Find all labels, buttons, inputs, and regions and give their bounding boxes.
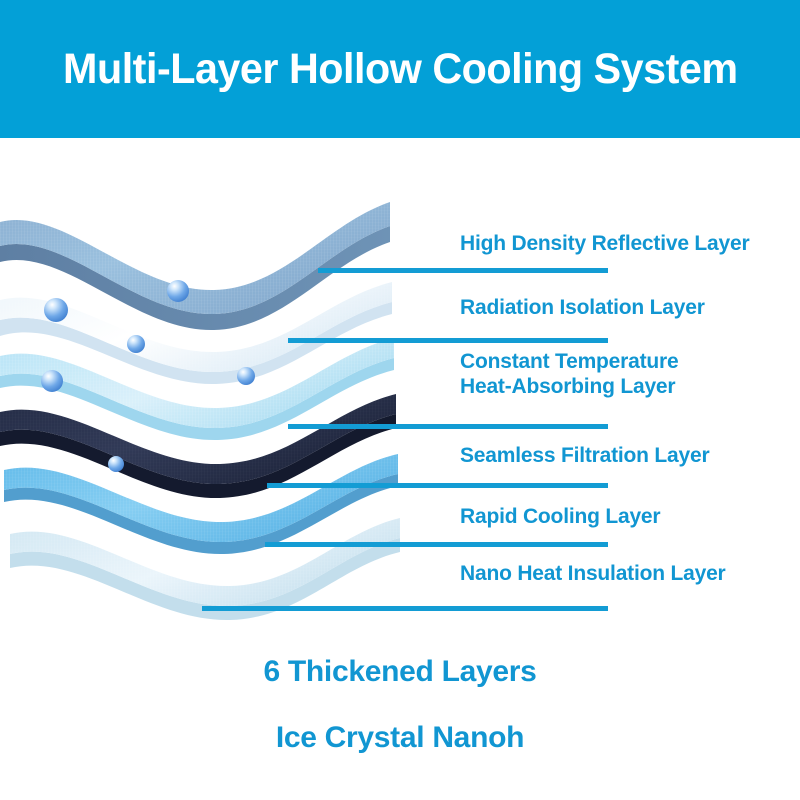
cooling-bead-icon — [127, 335, 145, 353]
layer-label-4: Seamless Filtration Layer — [460, 444, 709, 469]
layer-label-2: Radiation Isolation Layer — [460, 296, 705, 321]
infographic-page: Multi-Layer Hollow Cooling System — [0, 0, 800, 800]
cooling-bead-icon — [44, 298, 68, 322]
layer-label-3: Constant Temperature Heat-Absorbing Laye… — [460, 350, 760, 400]
layer-label-1: High Density Reflective Layer — [460, 232, 749, 257]
footer-line-ice-crystal: Ice Crystal Nanoh — [0, 721, 800, 755]
cooling-bead-icon — [108, 456, 124, 472]
layer-label-3-line1: Constant Temperature — [460, 350, 760, 375]
cooling-bead-icon — [167, 280, 189, 302]
page-title: Multi-Layer Hollow Cooling System — [63, 45, 738, 94]
layer-label-3-line2: Heat-Absorbing Layer — [460, 375, 760, 400]
cooling-bead-icon — [237, 367, 255, 385]
footer-block: 6 Thickened Layers Ice Crystal Nanoh — [0, 655, 800, 755]
cooling-bead-icon — [41, 370, 63, 392]
footer-line-thickened-layers: 6 Thickened Layers — [0, 655, 800, 689]
header-banner: Multi-Layer Hollow Cooling System — [0, 0, 800, 138]
layer-label-5: Rapid Cooling Layer — [460, 505, 660, 530]
layer-label-6: Nano Heat Insulation Layer — [460, 562, 726, 587]
fabric-layers-illustration — [0, 138, 470, 658]
